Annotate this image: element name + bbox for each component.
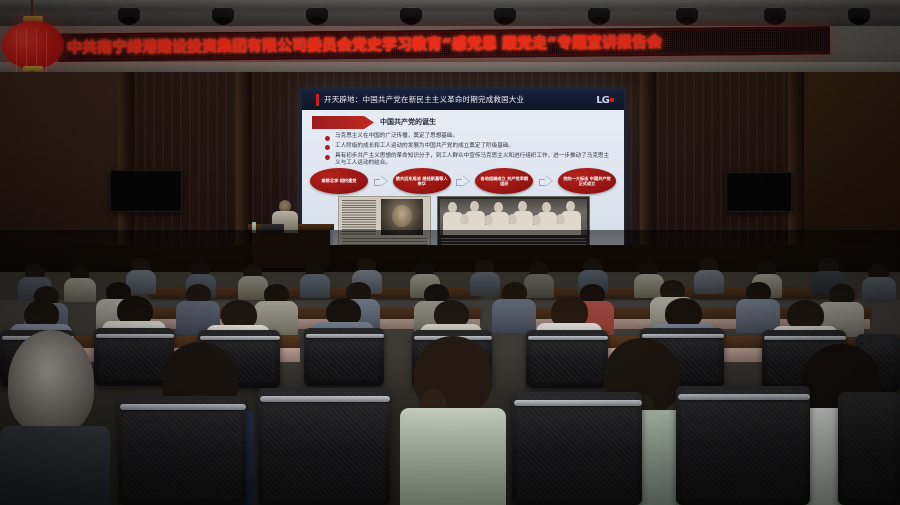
chair-armrest — [514, 400, 642, 406]
flow-step-label: 各地相继成立 共产党早期 组织 — [475, 176, 533, 187]
conference-chair — [512, 392, 642, 505]
slide-section-title: 中国共产党的诞生 — [380, 117, 436, 128]
audience-member — [492, 282, 536, 330]
logo-text: LG — [596, 95, 609, 106]
flow-step: 各地相继成立 共产党早期 组织 — [475, 168, 533, 194]
chair-armrest — [200, 336, 280, 340]
ceiling-spotlight — [306, 7, 328, 24]
slide-title-accent — [316, 94, 319, 106]
right-arrow-icon — [539, 176, 552, 187]
audience-member — [300, 262, 330, 296]
right-arrow-icon — [374, 176, 387, 187]
flow-step: 俄共远东局派 维经斯基等人 来华 — [393, 168, 451, 194]
slide-bullet-list: 马克思主义在中国的广泛传播，奠定了思想基础。 工人阶级的成长和工人运动的发展为中… — [324, 133, 614, 170]
wall-monitor-right-cable — [760, 210, 762, 238]
chair-armrest — [120, 404, 246, 410]
flow-step: 南陈北李 相约建党 — [310, 168, 368, 194]
slide-header-bar: 开天辟地：中国共产党在新民主主义革命时期完成救国大业 LG — [302, 90, 624, 110]
chair-armrest — [306, 334, 384, 338]
wall-panel-left — [0, 72, 118, 272]
ceiling-spotlight — [400, 7, 422, 24]
list-item: 马克思主义在中国的广泛传播，奠定了思想基础。 — [324, 133, 614, 140]
first-congress-group-photo — [437, 196, 591, 250]
wall-monitor-right — [726, 172, 792, 212]
bullet-text: 工人阶级的成长和工人运动的发展为中国共产党的成立奠定了阶级基础。 — [335, 143, 614, 150]
slide-header-title: 开天辟地：中国共产党在新民主主义革命时期完成救国大业 — [324, 94, 524, 106]
ceiling-spotlight — [848, 7, 870, 24]
flow-step-label: 南陈北李 相约建党 — [319, 178, 360, 183]
chair-armrest — [678, 394, 810, 400]
group-photo-image — [440, 199, 588, 235]
wall-panel-right — [790, 72, 900, 272]
process-flow-diagram: 南陈北李 相约建党 俄共远东局派 维经斯基等人 来华 各地相继成立 共产党早期 … — [310, 166, 616, 196]
conference-chair — [258, 388, 390, 505]
chair-armrest — [764, 336, 846, 340]
ceiling-spotlight — [494, 7, 516, 24]
wall-pillar — [640, 72, 656, 272]
wall-monitor-left-cable — [152, 210, 154, 240]
bullet-dot-icon — [325, 136, 330, 141]
wall-pillar — [236, 72, 252, 272]
audience-member — [694, 258, 724, 292]
ceiling-spotlight — [676, 7, 698, 24]
bullet-dot-icon — [325, 155, 330, 160]
ceiling-spotlight — [764, 7, 786, 24]
audience-member — [64, 266, 96, 300]
audience-member — [0, 330, 110, 505]
right-arrow-icon — [456, 176, 469, 187]
conference-chair — [118, 396, 246, 505]
chair-armrest — [260, 396, 390, 402]
ceiling-spotlight — [588, 7, 610, 24]
section-title-flag — [312, 116, 374, 129]
conference-chair — [676, 386, 810, 505]
presentation-slide: 开天辟地：中国共产党在新民主主义革命时期完成救国大业 LG 中国共产党的诞生 马… — [302, 90, 624, 255]
historical-newspaper-portrait — [338, 196, 431, 250]
company-logo: LG — [594, 94, 616, 106]
ceiling-spotlight — [212, 7, 234, 24]
ceiling-spotlight — [118, 7, 140, 24]
portrait-photo — [381, 199, 423, 235]
flow-step-label: 俄共远东局派 维经斯基等人 来华 — [393, 176, 451, 187]
logo-dot-icon — [610, 98, 614, 102]
slide-photo-group — [338, 196, 590, 248]
presenter-laptop — [262, 224, 284, 234]
flow-step-label: 党的一大标志 中国共产党 正式成立 — [558, 176, 616, 187]
bullet-text: 马克思主义在中国的广泛传播，奠定了思想基础。 — [335, 133, 614, 140]
conference-chair — [838, 392, 900, 505]
water-bottle — [252, 222, 256, 233]
bullet-dot-icon — [325, 145, 330, 150]
projection-screen: 开天辟地：中国共产党在新民主主义革命时期完成救国大业 LG 中国共产党的诞生 马… — [300, 88, 626, 257]
newspaper-text-block — [342, 200, 376, 236]
audience-member — [862, 264, 896, 300]
conference-hall-photo: 中共南宁绿港建设投资集团有限公司委员会党史学习教育“感党恩 跟党走”专题宣讲报告… — [0, 0, 900, 505]
flow-step: 党的一大标志 中国共产党 正式成立 — [558, 168, 616, 194]
list-item: 工人阶级的成长和工人运动的发展为中国共产党的成立奠定了阶级基础。 — [324, 143, 614, 150]
audience-member — [400, 336, 506, 505]
wall-monitor-left — [110, 170, 182, 212]
